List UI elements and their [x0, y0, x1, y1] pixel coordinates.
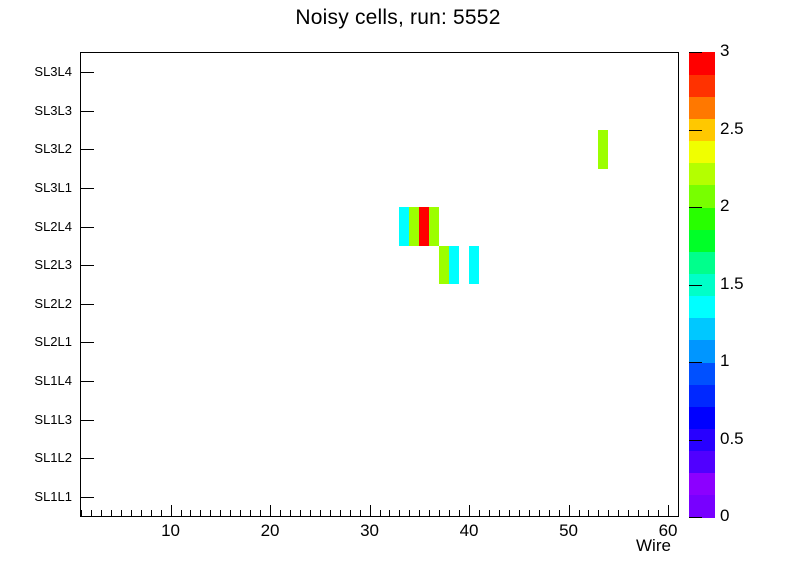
color-scale-tick-label: 2	[720, 196, 729, 216]
x-tick-minor	[190, 510, 191, 516]
color-scale-tick	[689, 517, 702, 518]
x-tick-minor	[539, 510, 540, 516]
x-tick-minor	[280, 510, 281, 516]
color-scale-tick	[689, 52, 702, 53]
x-tick-minor	[389, 510, 390, 516]
color-scale-band	[689, 74, 715, 97]
x-tick-minor	[429, 510, 430, 516]
x-tick-label: 20	[245, 521, 295, 541]
color-scale-tick-label: 0.5	[720, 429, 744, 449]
x-tick-minor	[240, 510, 241, 516]
y-tick-major	[81, 458, 94, 459]
color-scale-band	[689, 495, 715, 518]
x-tick-major	[171, 505, 172, 516]
y-tick-major	[81, 497, 94, 498]
x-tick-minor	[648, 510, 649, 516]
x-axis-title: Wire	[636, 536, 671, 556]
color-scale-band	[689, 451, 715, 474]
y-tick-major	[81, 72, 94, 73]
y-tick-major	[81, 304, 94, 305]
y-tick-label: SL3L1	[14, 180, 72, 195]
y-tick-label: SL3L3	[14, 103, 72, 118]
x-tick-minor	[310, 510, 311, 516]
y-tick-label: SL2L3	[14, 257, 72, 272]
x-tick-major	[469, 505, 470, 516]
color-scale-band	[689, 229, 715, 252]
y-tick-label: SL2L4	[14, 219, 72, 234]
x-tick-minor	[618, 510, 619, 516]
color-scale-tick	[689, 362, 702, 363]
x-tick-minor	[101, 510, 102, 516]
color-scale-tick	[689, 207, 702, 208]
x-tick-minor	[141, 510, 142, 516]
color-scale-band	[689, 318, 715, 341]
heatmap-cell	[419, 207, 429, 246]
color-scale-band	[689, 251, 715, 274]
color-scale-band	[689, 362, 715, 385]
x-tick-major	[668, 505, 669, 516]
x-tick-minor	[459, 510, 460, 516]
root-canvas: Noisy cells, run: 5552 102030405060 SL1L…	[0, 0, 796, 572]
x-tick-minor	[330, 510, 331, 516]
x-tick-minor	[300, 510, 301, 516]
x-tick-minor	[290, 510, 291, 516]
x-tick-minor	[559, 510, 560, 516]
color-scale-tick-label: 2.5	[720, 119, 744, 139]
x-tick-minor	[360, 510, 361, 516]
heatmap-cell	[449, 246, 459, 285]
x-tick-minor	[210, 510, 211, 516]
x-tick-minor	[509, 510, 510, 516]
color-scale-band	[689, 406, 715, 429]
y-tick-label: SL3L2	[14, 141, 72, 156]
heatmap-cell	[598, 130, 608, 169]
color-scale-band	[689, 163, 715, 186]
color-scale-band	[689, 185, 715, 208]
x-tick-minor	[399, 510, 400, 516]
y-tick-major	[81, 188, 94, 189]
color-scale-tick-label: 3	[720, 41, 729, 61]
heatmap-plot-area	[81, 53, 678, 516]
color-scale-band	[689, 296, 715, 319]
x-tick-minor	[658, 510, 659, 516]
color-scale-band	[689, 96, 715, 119]
color-scale-tick	[689, 285, 702, 286]
y-tick-label: SL1L3	[14, 412, 72, 427]
x-tick-minor	[549, 510, 550, 516]
x-tick-minor	[111, 510, 112, 516]
color-scale-band	[689, 141, 715, 164]
x-tick-minor	[479, 510, 480, 516]
color-scale-tick	[689, 440, 702, 441]
y-tick-major	[81, 149, 94, 150]
x-tick-label: 10	[146, 521, 196, 541]
y-tick-label: SL1L4	[14, 373, 72, 388]
y-tick-label: SL1L2	[14, 450, 72, 465]
x-tick-minor	[350, 510, 351, 516]
x-tick-minor	[608, 510, 609, 516]
x-tick-minor	[230, 510, 231, 516]
x-tick-label: 30	[345, 521, 395, 541]
y-tick-major	[81, 381, 94, 382]
x-tick-minor	[628, 510, 629, 516]
x-tick-minor	[181, 510, 182, 516]
y-tick-major	[81, 227, 94, 228]
x-tick-major	[370, 505, 371, 516]
x-tick-minor	[91, 510, 92, 516]
x-tick-minor	[439, 510, 440, 516]
x-tick-minor	[320, 510, 321, 516]
x-tick-minor	[220, 510, 221, 516]
x-tick-major	[569, 505, 570, 516]
x-tick-minor	[131, 510, 132, 516]
y-tick-label: SL2L1	[14, 334, 72, 349]
x-tick-minor	[200, 510, 201, 516]
x-tick-minor	[598, 510, 599, 516]
color-scale-tick	[689, 130, 702, 131]
x-tick-label: 40	[444, 521, 494, 541]
heatmap-cell	[429, 207, 439, 246]
page-title: Noisy cells, run: 5552	[0, 6, 796, 30]
x-tick-minor	[638, 510, 639, 516]
color-scale-band	[689, 384, 715, 407]
heatmap-cell	[409, 207, 419, 246]
heatmap-cell	[439, 246, 449, 285]
x-tick-minor	[489, 510, 490, 516]
x-tick-major	[270, 505, 271, 516]
x-tick-minor	[340, 510, 341, 516]
color-scale-band	[689, 52, 715, 75]
x-tick-minor	[678, 510, 679, 516]
y-tick-label: SL3L4	[14, 64, 72, 79]
color-scale-tick-label: 1.5	[720, 274, 744, 294]
y-tick-major	[81, 342, 94, 343]
color-scale-band	[689, 207, 715, 230]
y-tick-major	[81, 265, 94, 266]
color-scale-tick-label: 0	[720, 506, 729, 526]
x-tick-minor	[151, 510, 152, 516]
heatmap-cell	[469, 246, 479, 285]
x-tick-minor	[81, 510, 82, 516]
x-tick-minor	[579, 510, 580, 516]
y-tick-major	[81, 420, 94, 421]
x-tick-label: 50	[544, 521, 594, 541]
x-tick-minor	[409, 510, 410, 516]
color-scale-band	[689, 340, 715, 363]
x-tick-minor	[419, 510, 420, 516]
x-tick-minor	[499, 510, 500, 516]
color-scale-band	[689, 473, 715, 496]
x-tick-minor	[529, 510, 530, 516]
x-tick-minor	[380, 510, 381, 516]
y-tick-label: SL2L2	[14, 296, 72, 311]
x-tick-minor	[250, 510, 251, 516]
x-tick-minor	[121, 510, 122, 516]
x-tick-minor	[519, 510, 520, 516]
x-tick-minor	[260, 510, 261, 516]
x-tick-minor	[161, 510, 162, 516]
x-tick-minor	[588, 510, 589, 516]
y-tick-major	[81, 111, 94, 112]
x-tick-minor	[449, 510, 450, 516]
color-scale-tick-label: 1	[720, 351, 729, 371]
y-tick-label: SL1L1	[14, 489, 72, 504]
heatmap-cell	[399, 207, 409, 246]
